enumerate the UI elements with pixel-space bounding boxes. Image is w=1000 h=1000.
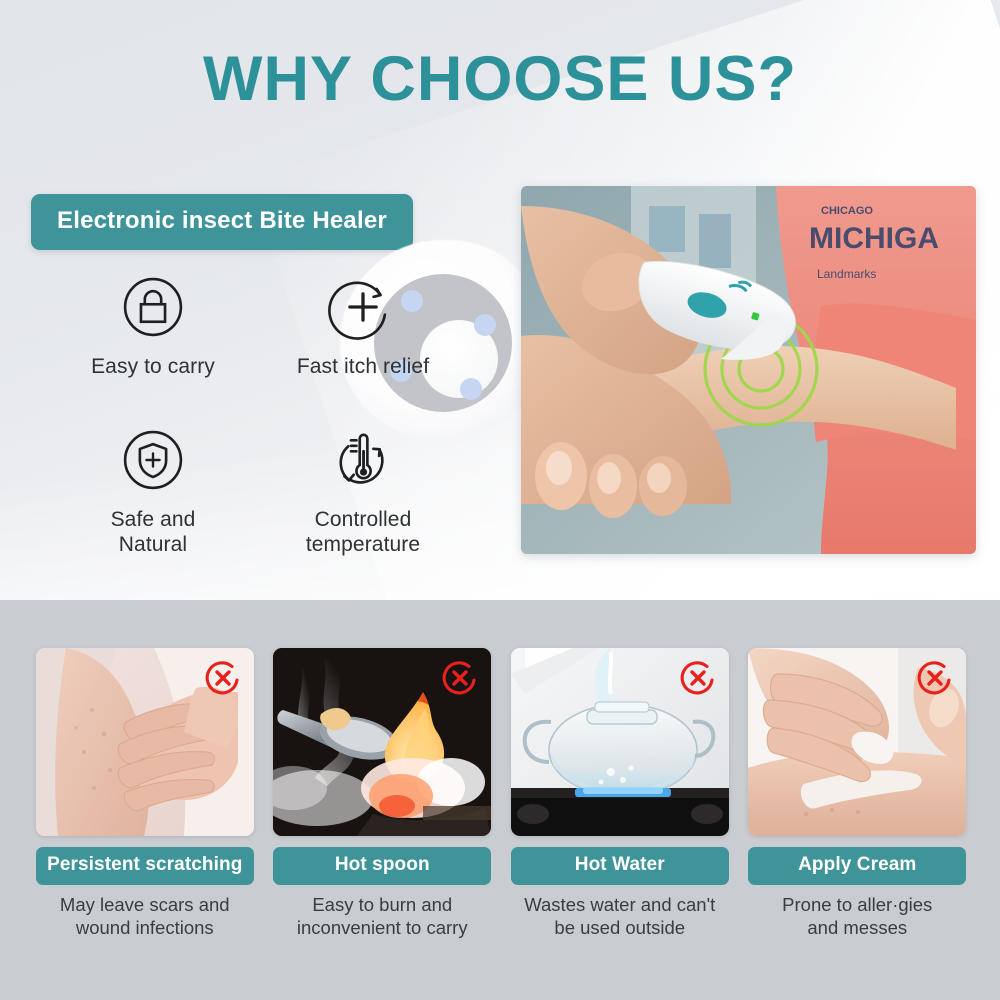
- infographic-page: WHY CHOOSE US? Electronic insect Bite He…: [0, 0, 1000, 1000]
- alternative-card: Persistent scratching May leave scars an…: [26, 648, 264, 940]
- plus-refresh-icon: [328, 272, 398, 342]
- thermometer-cycle-icon: [328, 425, 398, 495]
- feature-easy-to-carry: Easy to carry: [48, 272, 258, 379]
- feature-controlled-temperature: Controlled temperature: [258, 425, 468, 557]
- alternative-title: Persistent scratching: [36, 847, 254, 885]
- alternative-title: Apply Cream: [748, 847, 966, 885]
- disc-dot: [474, 314, 496, 336]
- page-title: WHY CHOOSE US?: [0, 48, 1000, 111]
- product-name-pill: Electronic insect Bite Healer: [31, 194, 413, 250]
- alternative-card: Hot spoon Easy to burn and inconvenient …: [264, 648, 502, 940]
- handbag-lock-icon: [118, 272, 188, 342]
- svg-text:MICHIGA: MICHIGA: [809, 222, 939, 255]
- feature-label: Easy to carry: [91, 355, 215, 379]
- device-in-use-photo: CHICAGO MICHIGA Landmarks: [521, 186, 976, 554]
- hot-spoon-flame-photo: [273, 648, 491, 836]
- arm-scratching-photo: [36, 648, 254, 836]
- circle-x-icon: [440, 658, 480, 698]
- applying-cream-photo: [748, 648, 966, 836]
- alternatives-section: Persistent scratching May leave scars an…: [0, 600, 1000, 1000]
- circle-x-icon: [915, 658, 955, 698]
- alternative-desc: Easy to burn and inconvenient to carry: [267, 894, 497, 940]
- alternative-title: Hot spoon: [273, 847, 491, 885]
- circle-x-icon: [678, 658, 718, 698]
- alternative-desc: Wastes water and can't be used outside: [505, 894, 735, 940]
- feature-fast-itch-relief: Fast itch relief: [258, 272, 468, 379]
- top-section: WHY CHOOSE US? Electronic insect Bite He…: [0, 0, 1000, 600]
- circle-x-icon: [203, 658, 243, 698]
- feature-safe-and-natural: Safe and Natural: [48, 425, 258, 557]
- alternative-card: Hot Water Wastes water and can't be used…: [501, 648, 739, 940]
- feature-label: Controlled temperature: [306, 508, 420, 557]
- alternative-desc: Prone to aller·gies and messes: [742, 894, 972, 940]
- feature-list: Easy to carry Fast itch relief: [48, 272, 468, 557]
- glass-kettle-hot-water-photo: [511, 648, 729, 836]
- shield-plus-icon: [118, 425, 188, 495]
- svg-text:CHICAGO: CHICAGO: [821, 205, 873, 217]
- feature-label: Fast itch relief: [297, 355, 429, 379]
- alternatives-card-list: Persistent scratching May leave scars an…: [26, 648, 976, 940]
- alternative-title: Hot Water: [511, 847, 729, 885]
- alternative-desc: May leave scars and wound infections: [30, 894, 260, 940]
- feature-label: Safe and Natural: [111, 508, 196, 557]
- alternative-card: Apply Cream Prone to aller·gies and mess…: [739, 648, 977, 940]
- svg-text:Landmarks: Landmarks: [817, 267, 876, 281]
